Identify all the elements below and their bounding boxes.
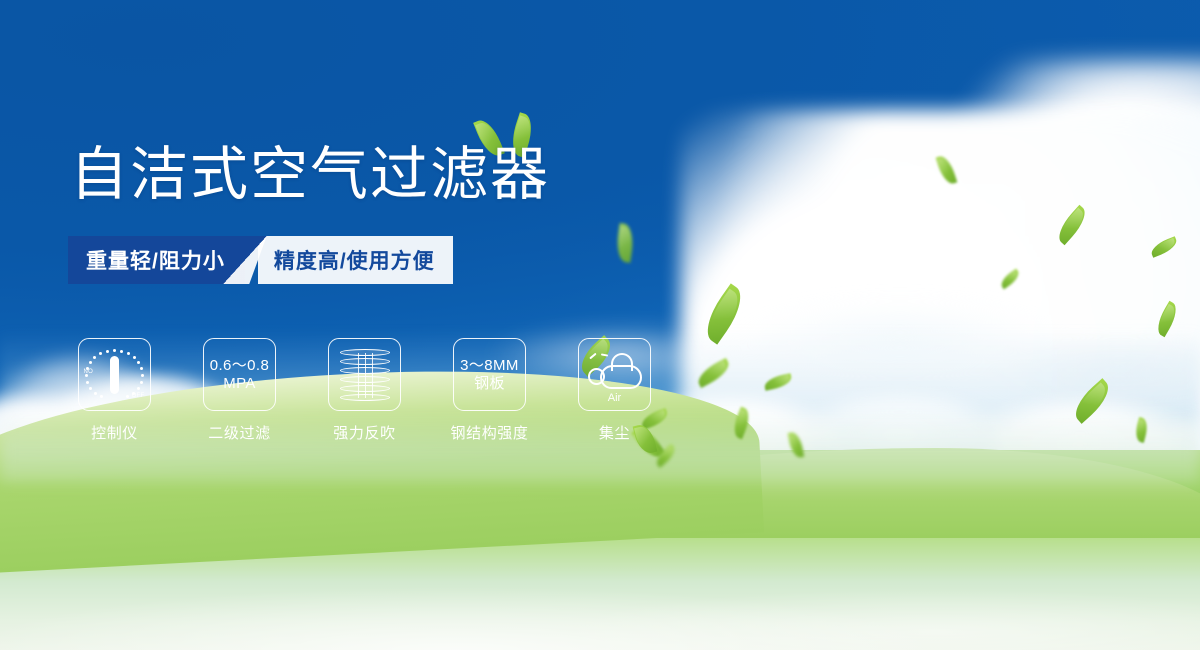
hero-banner: 自洁式空气过滤器 重量轻/阻力小 精度高/使用方便	[0, 0, 1200, 650]
feature-item-backblow[interactable]: 强力反吹	[328, 338, 401, 443]
feature-label-filtration: 二级过滤	[208, 422, 270, 443]
feature-box-filtration: 0.6〜0.8 MPA	[203, 338, 276, 411]
subtitle-bar: 重量轻/阻力小 精度高/使用方便	[68, 236, 453, 284]
feature-list: NO OFF 控制仪 0.6〜0.8 MPA 二级过滤	[78, 338, 651, 443]
pressure-value-line2: MPA	[210, 375, 270, 393]
feature-label-controller: 控制仪	[91, 422, 138, 443]
cloud-body	[600, 365, 642, 389]
feature-box-dust: Air	[578, 338, 651, 411]
steel-value-line1: 3〜8MM	[460, 357, 519, 375]
page-title: 自洁式空气过滤器	[70, 146, 550, 204]
sun-ray-1	[589, 352, 597, 359]
feature-box-controller: NO OFF	[78, 338, 151, 411]
gauge-off-label: OFF	[132, 393, 145, 399]
feature-label-steel: 钢结构强度	[451, 422, 529, 443]
pressure-value-line1: 0.6〜0.8	[210, 357, 270, 375]
feature-item-filtration[interactable]: 0.6〜0.8 MPA 二级过滤	[203, 338, 276, 443]
gauge-needle	[110, 356, 119, 394]
steel-text-icon: 3〜8MM 钢板	[460, 357, 519, 392]
feature-item-dust[interactable]: Air 集尘	[578, 338, 651, 443]
gauge-icon: NO OFF	[86, 349, 144, 401]
feature-label-dust: 集尘	[599, 422, 630, 443]
filter-discs-icon	[340, 349, 390, 401]
air-label: Air	[579, 392, 650, 404]
feature-item-controller[interactable]: NO OFF 控制仪	[78, 338, 151, 443]
cloud-air-icon	[588, 355, 642, 389]
pressure-text-icon: 0.6〜0.8 MPA	[210, 357, 270, 392]
sun-ray-2	[600, 353, 607, 356]
feature-box-backblow	[328, 338, 401, 411]
feature-item-steel[interactable]: 3〜8MM 钢板 钢结构强度	[453, 338, 526, 443]
steel-value-line2: 钢板	[460, 375, 519, 393]
feature-label-backblow: 强力反吹	[333, 422, 395, 443]
feature-box-steel: 3〜8MM 钢板	[453, 338, 526, 411]
subtitle-segment-secondary: 精度高/使用方便	[258, 236, 453, 284]
subtitle-segment-primary: 重量轻/阻力小	[68, 236, 245, 284]
gauge-on-label: NO	[84, 369, 94, 375]
grass-highlight	[0, 500, 1200, 650]
